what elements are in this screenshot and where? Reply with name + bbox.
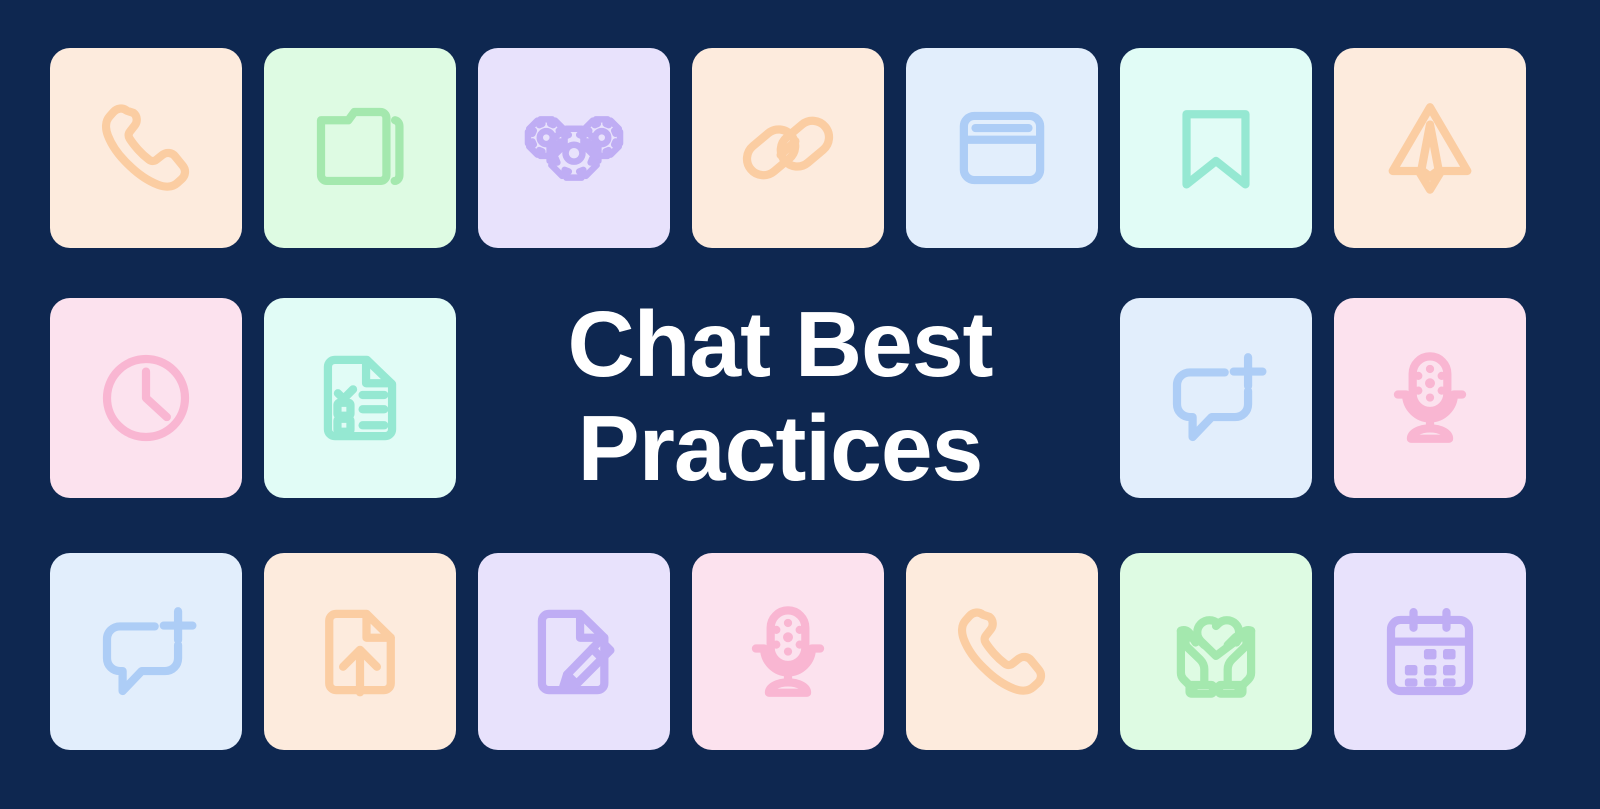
banner-canvas: Chat Best Practices [0,0,1600,809]
folder-icon [308,96,412,200]
page-title: Chat Best Practices [470,296,1090,496]
microphone-icon [736,600,840,704]
link-icon [736,96,840,200]
chat-plus-icon [1164,346,1268,450]
tile-microphone-r3c4[interactable] [692,553,884,750]
send-icon [1378,96,1482,200]
clock-icon [94,346,198,450]
phone-icon [950,600,1054,704]
tile-checklist-r2c2[interactable] [264,298,456,498]
tile-clock-r2c1[interactable] [50,298,242,498]
file-upload-icon [308,600,412,704]
checklist-icon [308,346,412,450]
tile-chat-plus-r3c1[interactable] [50,553,242,750]
tile-gears-r1c3[interactable] [478,48,670,248]
phone-icon [94,96,198,200]
tile-file-upload-r3c2[interactable] [264,553,456,750]
tile-chat-plus-r2c6[interactable] [1120,298,1312,498]
bookmark-icon [1164,96,1268,200]
tile-bookmark-r1c6[interactable] [1120,48,1312,248]
chat-plus-icon [94,600,198,704]
care-heart-icon [1164,600,1268,704]
tile-microphone-r2c7[interactable] [1334,298,1526,498]
tile-folder-r1c2[interactable] [264,48,456,248]
tile-send-r1c7[interactable] [1334,48,1526,248]
file-edit-icon [522,600,626,704]
tile-link-r1c4[interactable] [692,48,884,248]
microphone-icon [1378,346,1482,450]
tile-care-heart-r3c6[interactable] [1120,553,1312,750]
tile-phone-r3c5[interactable] [906,553,1098,750]
tile-file-edit-r3c3[interactable] [478,553,670,750]
page-title-line-1: Chat Best [567,292,992,396]
gears-icon [522,96,626,200]
tile-calendar-r3c7[interactable] [1334,553,1526,750]
page-title-line-2: Practices [578,396,983,500]
calendar-icon [1378,600,1482,704]
tile-window-r1c5[interactable] [906,48,1098,248]
window-icon [950,96,1054,200]
tile-phone-r1c1[interactable] [50,48,242,248]
